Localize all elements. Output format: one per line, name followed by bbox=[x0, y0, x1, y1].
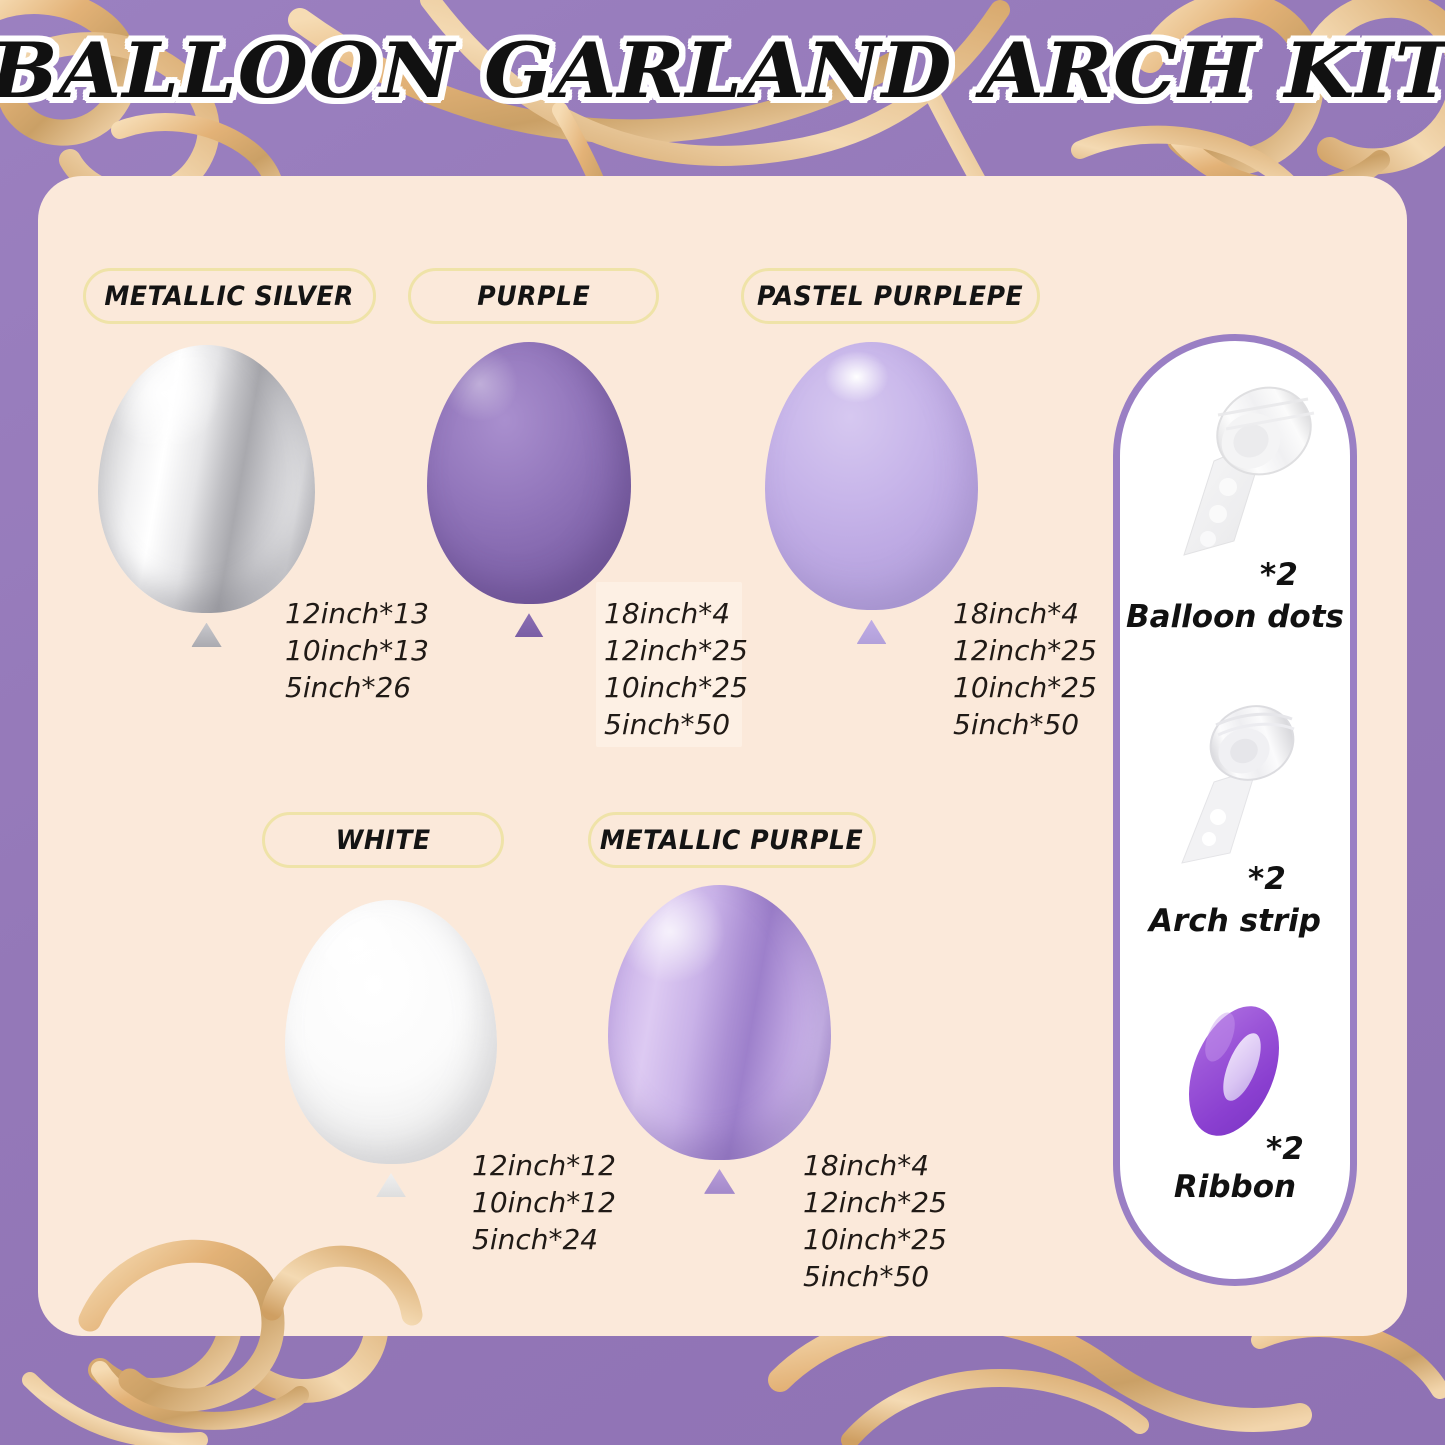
accessory-qty: *2 bbox=[1260, 557, 1298, 593]
size-line: 12inch*13 bbox=[285, 596, 429, 633]
balloon-neck bbox=[857, 620, 887, 644]
accessory-qty: *2 bbox=[1248, 861, 1286, 897]
balloon-metallic-silver bbox=[98, 345, 315, 650]
size-line: 10inch*25 bbox=[953, 670, 1097, 707]
size-line: 12inch*25 bbox=[803, 1185, 947, 1222]
balloon-metallic-purple bbox=[608, 885, 831, 1197]
group-label-text: PASTEL PURPLEPE bbox=[757, 281, 1023, 312]
balloon-neck bbox=[191, 623, 221, 647]
size-line: 10inch*12 bbox=[472, 1185, 616, 1222]
group-label-text: WHITE bbox=[335, 825, 430, 856]
balloon-pastel-purple bbox=[765, 342, 978, 647]
accessory-name: Arch strip bbox=[1120, 903, 1350, 939]
balloon-white bbox=[285, 900, 497, 1200]
balloon-body bbox=[285, 900, 497, 1164]
group-label-pastel-purple: PASTEL PURPLEPE bbox=[741, 268, 1040, 324]
group-label-text: METALLIC SILVER bbox=[105, 281, 355, 312]
balloon-body bbox=[765, 342, 978, 610]
balloon-body bbox=[98, 345, 315, 613]
sizes-pastel-purple: 18inch*4 12inch*25 10inch*25 5inch*50 bbox=[953, 596, 1097, 744]
size-line: 10inch*13 bbox=[285, 633, 429, 670]
accessory-balloon-dots: *2 Balloon dots bbox=[1120, 359, 1350, 635]
size-line: 18inch*4 bbox=[803, 1148, 947, 1185]
balloon-body bbox=[608, 885, 831, 1160]
size-line: 12inch*25 bbox=[953, 633, 1097, 670]
sizes-white: 12inch*12 10inch*12 5inch*24 bbox=[472, 1148, 616, 1259]
sizes-metallic-purple: 18inch*4 12inch*25 10inch*25 5inch*50 bbox=[803, 1148, 947, 1296]
sizes-metallic-silver: 12inch*13 10inch*13 5inch*26 bbox=[285, 596, 429, 707]
glue-dots-roll-icon bbox=[1156, 369, 1326, 574]
group-label-white: WHITE bbox=[262, 812, 504, 868]
accessory-arch-strip: *2 Arch strip bbox=[1120, 671, 1350, 939]
size-line: 10inch*25 bbox=[604, 670, 748, 707]
size-line: 18inch*4 bbox=[953, 596, 1097, 633]
balloon-neck bbox=[515, 613, 544, 637]
accessories-panel: *2 Balloon dots bbox=[1113, 334, 1357, 1286]
balloon-neck bbox=[376, 1173, 406, 1197]
page-title: BALLOON GARLAND ARCH KIT bbox=[0, 26, 1445, 115]
size-line: 5inch*24 bbox=[472, 1222, 616, 1259]
group-label-text: PURPLE bbox=[477, 281, 590, 312]
group-label-purple: PURPLE bbox=[408, 268, 659, 324]
sizes-purple: 18inch*4 12inch*25 10inch*25 5inch*50 bbox=[604, 596, 748, 744]
arch-tape-roll-icon bbox=[1152, 677, 1322, 877]
balloon-body bbox=[427, 342, 631, 604]
size-line: 12inch*12 bbox=[472, 1148, 616, 1185]
size-line: 18inch*4 bbox=[604, 596, 748, 633]
size-line: 5inch*50 bbox=[604, 707, 748, 744]
size-line: 10inch*25 bbox=[803, 1222, 947, 1259]
balloon-neck bbox=[704, 1169, 735, 1194]
accessory-name: Ribbon bbox=[1120, 1169, 1350, 1205]
accessory-ribbon: *2 Ribbon bbox=[1120, 981, 1350, 1205]
size-line: 12inch*25 bbox=[604, 633, 748, 670]
group-label-metallic-silver: METALLIC SILVER bbox=[83, 268, 376, 324]
group-label-metallic-purple: METALLIC PURPLE bbox=[588, 812, 876, 868]
product-infographic: BALLOON GARLAND ARCH KIT METALLIC SILVER… bbox=[0, 0, 1445, 1445]
size-line: 5inch*26 bbox=[285, 670, 429, 707]
size-line: 5inch*50 bbox=[803, 1259, 947, 1296]
accessory-qty: *2 bbox=[1266, 1131, 1304, 1167]
size-line: 5inch*50 bbox=[953, 707, 1097, 744]
accessory-name: Balloon dots bbox=[1120, 599, 1350, 635]
group-label-text: METALLIC PURPLE bbox=[600, 825, 863, 856]
